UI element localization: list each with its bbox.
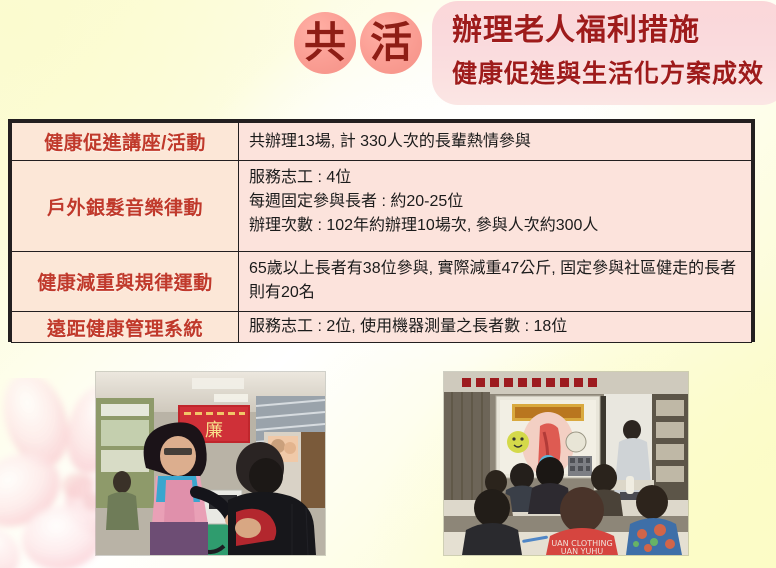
row-label-outdoor-music: 戶外銀髮音樂律動 bbox=[12, 161, 239, 252]
table-row: 健康減重與規律運動 65歲以上長者有38位參與, 實際減重47公斤, 固定參與社… bbox=[12, 252, 752, 312]
table-row: 健康促進講座/活動 共辦理13場, 計 330人次的長輩熱情參與 bbox=[12, 123, 752, 161]
table-row: 戶外銀髮音樂律動 服務志工 : 4位 每週固定參與長者 : 約20-25位 辦理… bbox=[12, 161, 752, 252]
badge-huo: 活 bbox=[360, 12, 422, 74]
value-line: 辦理次數 : 102年約辦理10場次, 參與人次約300人 bbox=[249, 214, 743, 238]
value-line: 65歲以上長者有38位參與, 實際減重47公斤, 固定參與社區健走的長者則有20… bbox=[249, 257, 743, 305]
svg-text:廉: 廉 bbox=[205, 420, 223, 441]
row-value-outdoor-music: 服務志工 : 4位 每週固定參與長者 : 約20-25位 辦理次數 : 102年… bbox=[239, 161, 752, 252]
program-results-table: 健康促進講座/活動 共辦理13場, 計 330人次的長輩熱情參與 戶外銀髮音樂律… bbox=[8, 119, 755, 342]
value-line: 服務志工 : 4位 bbox=[249, 166, 743, 190]
slide-canvas: 共 活 辦理老人福利措施 健康促進與生活化方案成效 健康促進講座/活動 共辦理1… bbox=[0, 0, 776, 568]
row-value-weight-exercise: 65歲以上長者有38位參與, 實際減重47公斤, 固定參與社區健走的長者則有20… bbox=[239, 252, 752, 312]
row-label-telehealth: 遠距健康管理系統 bbox=[12, 312, 239, 343]
table-row: 遠距健康管理系統 服務志工 : 2位, 使用機器測量之長者數 : 18位 bbox=[12, 312, 752, 343]
photo-health-lecture-classroom: UAN CLOTHING UAN YUHU bbox=[444, 372, 688, 555]
row-label-health-lecture: 健康促進講座/活動 bbox=[12, 123, 239, 161]
badge-huo-label: 活 bbox=[370, 22, 412, 64]
badge-gong: 共 bbox=[294, 12, 356, 74]
photo-blood-pressure-measurement: 廉 bbox=[96, 372, 325, 555]
row-value-health-lecture: 共辦理13場, 計 330人次的長輩熱情參與 bbox=[239, 123, 752, 161]
row-value-telehealth: 服務志工 : 2位, 使用機器測量之長者數 : 18位 bbox=[239, 312, 752, 343]
value-line: 每週固定參與長者 : 約20-25位 bbox=[249, 190, 743, 214]
page-title: 辦理老人福利措施 bbox=[452, 16, 700, 46]
row-label-weight-exercise: 健康減重與規律運動 bbox=[12, 252, 239, 312]
value-line: 共辦理13場, 計 330人次的長輩熱情參與 bbox=[249, 130, 743, 154]
page-subtitle: 健康促進與生活化方案成效 bbox=[452, 62, 764, 87]
badge-gong-label: 共 bbox=[304, 22, 346, 64]
value-line: 服務志工 : 2位, 使用機器測量之長者數 : 18位 bbox=[249, 315, 743, 339]
svg-text:UAN YUHU: UAN YUHU bbox=[561, 547, 604, 555]
slide-header: 共 活 辦理老人福利措施 健康促進與生活化方案成效 bbox=[0, 0, 776, 112]
